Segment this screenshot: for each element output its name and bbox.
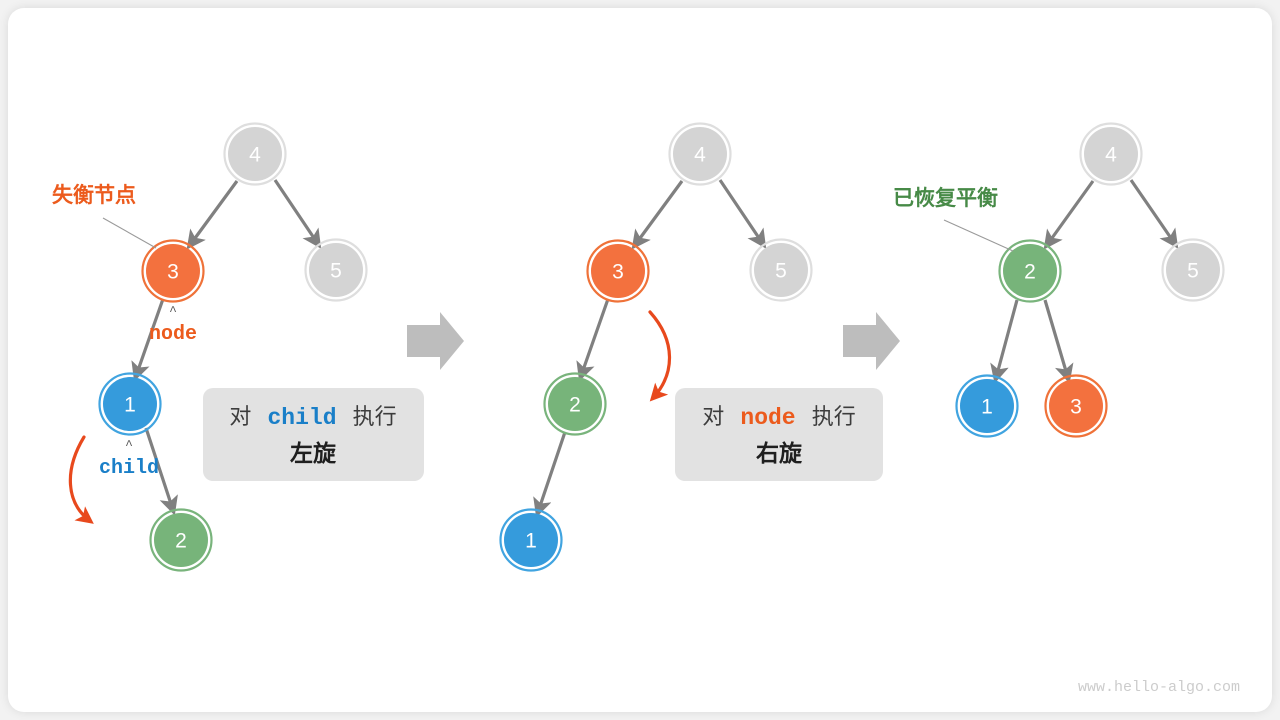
edge-4-to-5: [1131, 180, 1175, 244]
node-value: 3: [612, 261, 624, 284]
node-2-panel-2: 2: [545, 374, 606, 435]
node-3-panel-2: 3: [588, 241, 649, 302]
step-middle: 执行: [812, 404, 856, 429]
node-value: 4: [694, 144, 706, 167]
step-target: node: [740, 405, 795, 431]
node-var-caret: ^: [169, 304, 177, 319]
edge-4-to-3: [190, 181, 237, 245]
transition-arrow-1: [407, 312, 464, 370]
node-var-label: node: [149, 323, 197, 346]
node-5-panel-2: 5: [751, 240, 812, 301]
node-1-panel-3: 1: [957, 376, 1018, 437]
edge-4-to-2: [1047, 181, 1093, 245]
step-line-1: 对 node 执行: [702, 404, 856, 431]
node-5-panel-3: 5: [1163, 240, 1224, 301]
rebalanced-label: 已恢复平衡: [893, 186, 998, 210]
right-rotation-arrow: [650, 312, 670, 398]
node-value: 4: [1105, 144, 1117, 167]
node-1-panel-2: 1: [501, 510, 562, 571]
step-target: child: [267, 405, 336, 431]
node-value: 5: [775, 260, 787, 283]
step-box-background: [675, 388, 883, 481]
node-value: 5: [330, 260, 342, 283]
step-middle: 执行: [353, 404, 397, 429]
node-value: 2: [569, 394, 581, 417]
node-2-panel-before: 2: [151, 510, 212, 571]
node-4-panel-before: 4: [225, 124, 286, 185]
node-2-panel-3: 2: [1000, 241, 1061, 302]
avl-rotation-diagram: 4 3 5 1 2 失衡节点: [0, 0, 1280, 720]
left-rotation-arrow: [70, 437, 90, 521]
node-3-panel-before: 3: [143, 241, 204, 302]
node-1-panel-before: 1: [100, 374, 161, 435]
node-3-panel-3: 3: [1046, 376, 1107, 437]
step-prefix: 对: [229, 404, 251, 429]
step-action: 左旋: [290, 440, 337, 466]
watermark-text: www.hello-algo.com: [1078, 679, 1240, 696]
figure-stage: 4 3 5 1 2 失衡节点: [0, 0, 1280, 720]
step-left-rotate-box: 对 child 执行 左旋: [203, 388, 424, 481]
right-arrow-icon: [407, 312, 464, 370]
edge-4-to-5: [720, 180, 763, 244]
unbalanced-leader-line: [103, 218, 156, 248]
node-4-panel-3: 4: [1081, 124, 1142, 185]
edge-2-to-1: [538, 432, 565, 512]
transition-arrow-2: [843, 312, 900, 370]
step-right-rotate-box: 对 node 执行 右旋: [675, 388, 883, 481]
step-prefix: 对: [702, 404, 724, 429]
node-value: 2: [175, 530, 187, 553]
node-value: 1: [525, 530, 537, 553]
step-box-background: [203, 388, 424, 481]
node-value: 1: [124, 394, 136, 417]
right-arrow-icon: [843, 312, 900, 370]
panel-before: 4 3 5 1 2 失衡节点: [52, 124, 367, 571]
rebalanced-leader-line: [944, 220, 1013, 251]
edge-2-to-1: [996, 300, 1017, 378]
unbalanced-node-label: 失衡节点: [52, 183, 136, 207]
node-5-panel-before: 5: [306, 240, 367, 301]
step-action: 右旋: [756, 440, 803, 466]
edge-4-to-3: [635, 181, 682, 245]
node-4-panel-2: 4: [670, 124, 731, 185]
edge-3-to-2: [581, 299, 608, 376]
node-value: 1: [981, 396, 993, 419]
edge-2-to-3: [1045, 300, 1068, 378]
node-value: 3: [1070, 396, 1082, 419]
edge-4-to-5: [275, 180, 318, 244]
node-value: 3: [167, 261, 179, 284]
node-value: 5: [1187, 260, 1199, 283]
step-line-1: 对 child 执行: [229, 404, 396, 431]
panel-after-right-rotate: 4 2 5 1 3 已恢复平衡: [893, 124, 1224, 437]
panel-after-left-rotate: 4 3 5 2 1: [501, 124, 812, 571]
child-var-label: child: [99, 457, 159, 480]
node-value: 4: [249, 144, 261, 167]
node-value: 2: [1024, 261, 1036, 284]
child-var-caret: ^: [125, 438, 133, 453]
